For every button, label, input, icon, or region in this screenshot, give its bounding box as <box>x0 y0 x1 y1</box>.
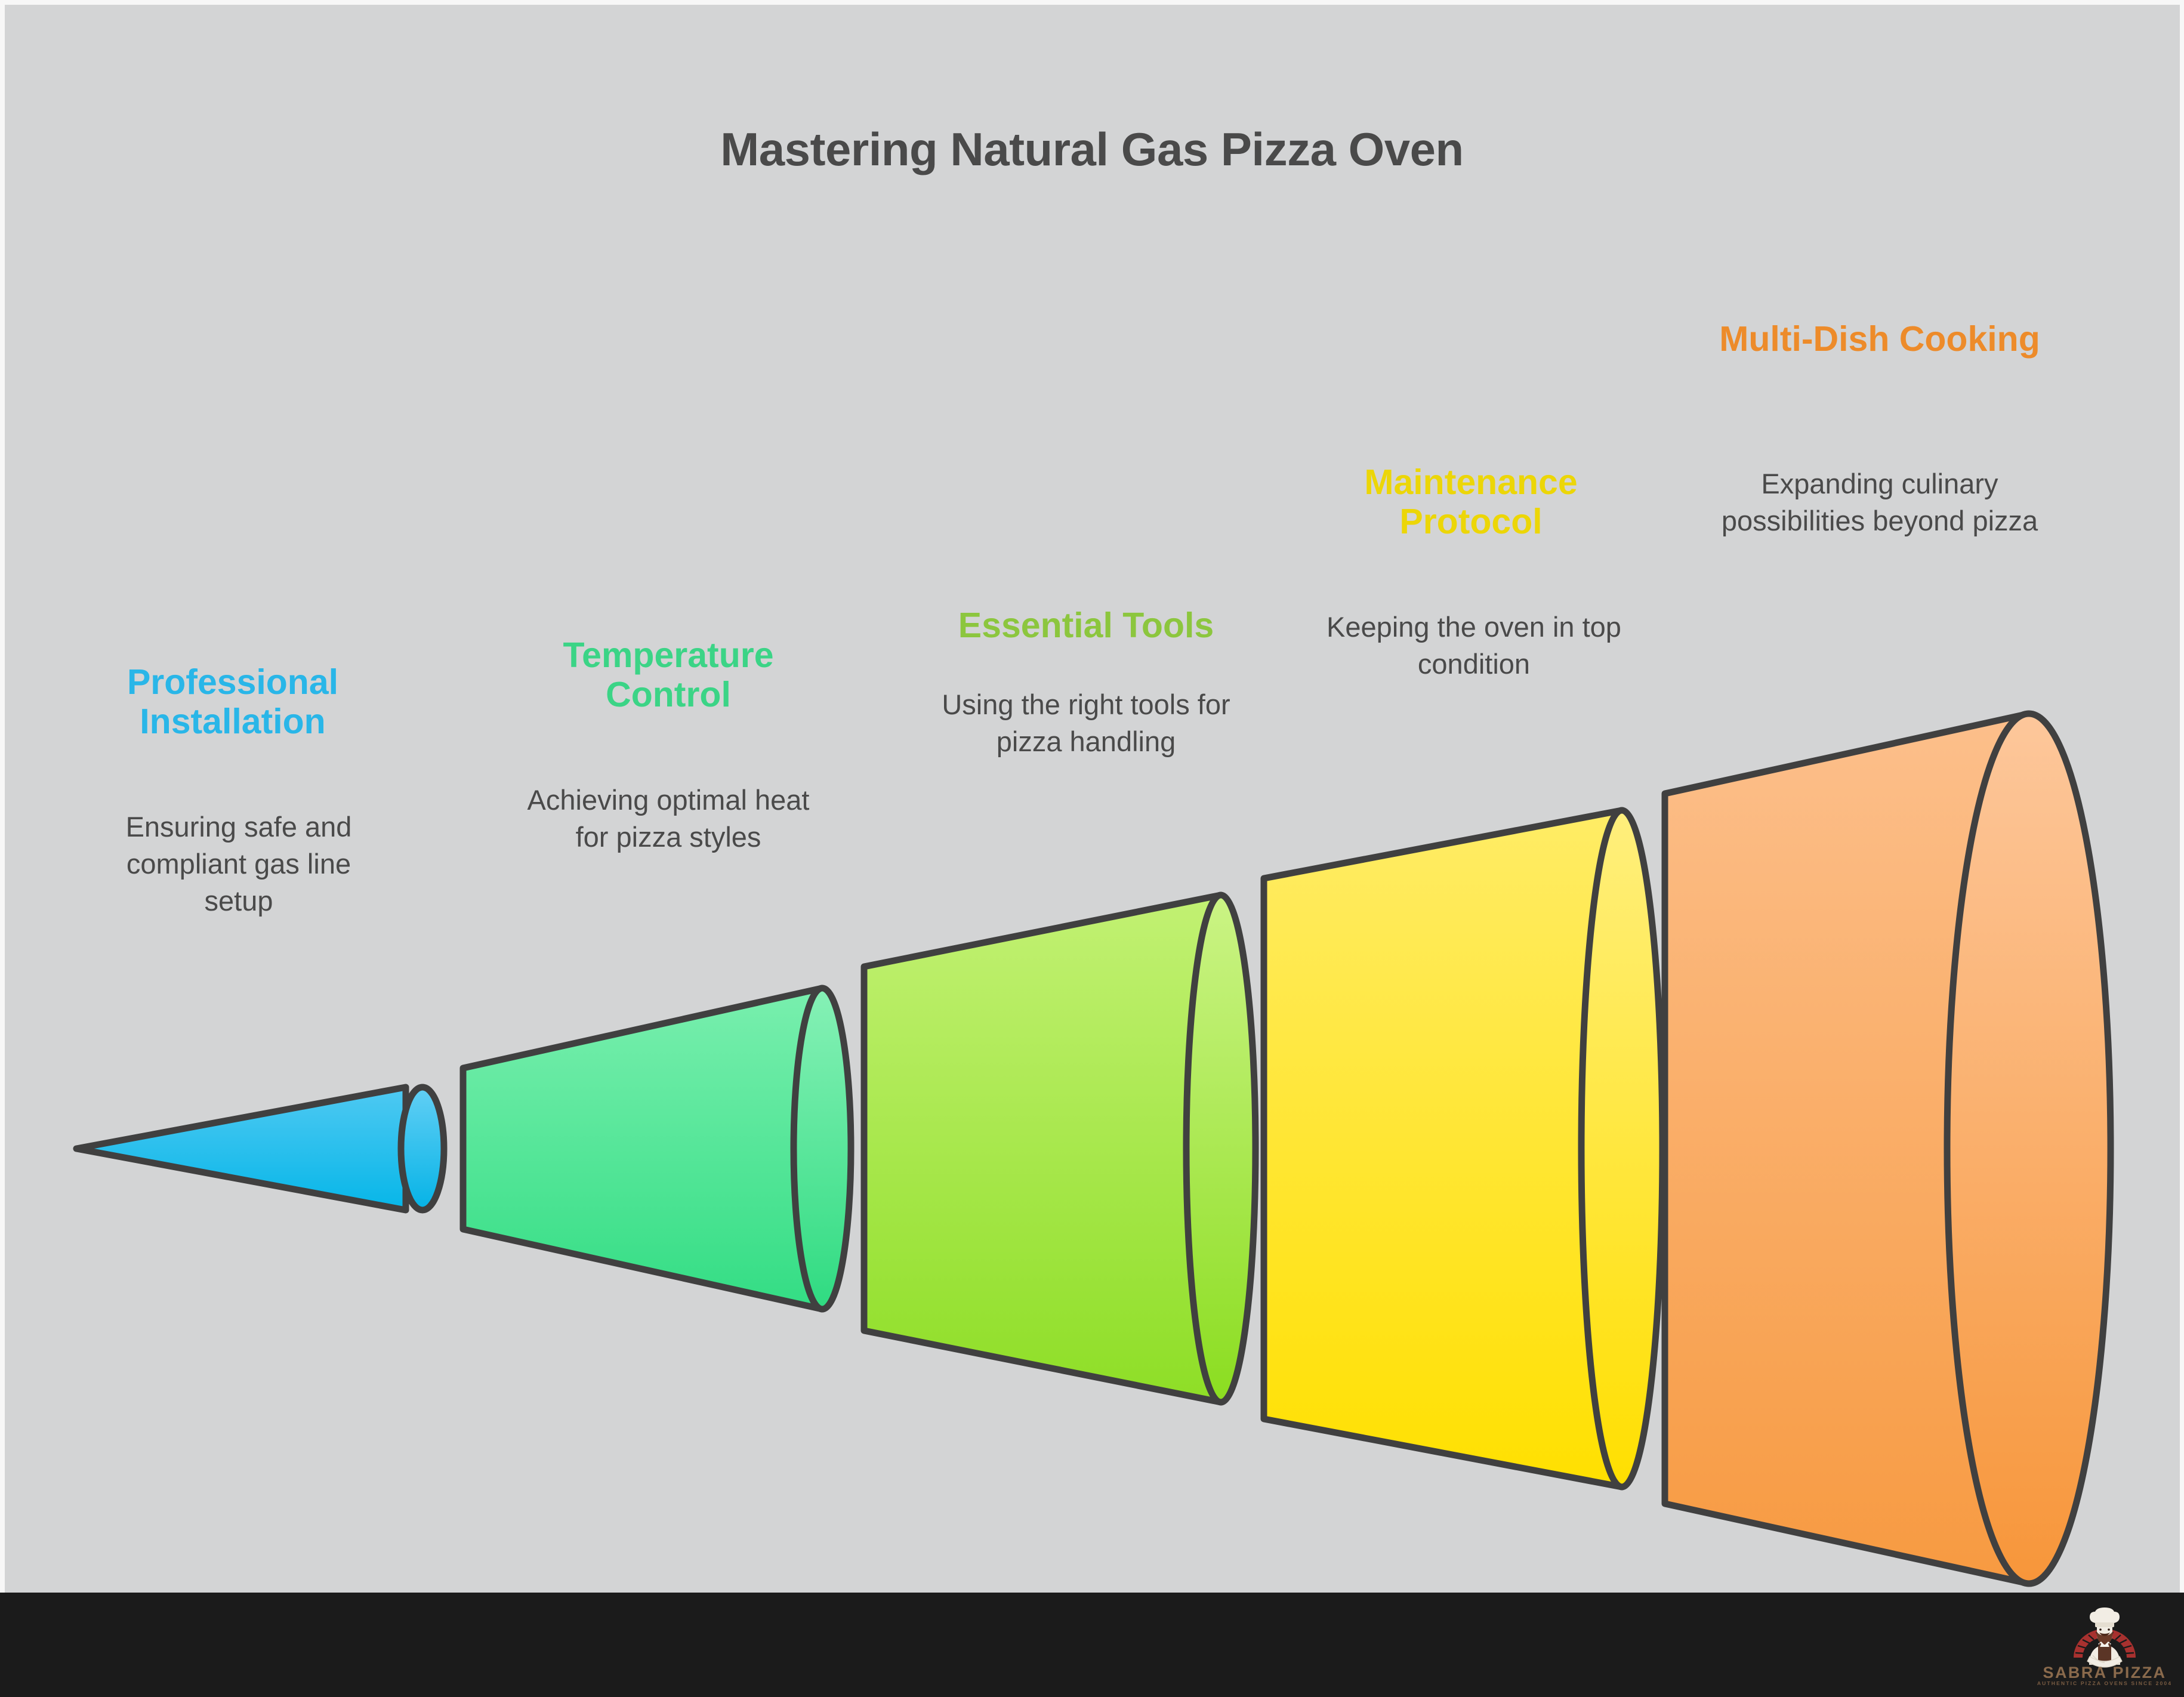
stage-label-multi-dish-cooking: Multi-Dish Cooking <box>1719 319 2041 359</box>
footer-bar <box>0 1593 2184 1697</box>
infographic-canvas: Mastering Natural Gas Pizza Oven <box>0 0 2184 1697</box>
stage-label-professional-installation: Professional Installation <box>90 662 376 741</box>
brand-name: SABRA PIZZA <box>2043 1664 2167 1681</box>
funnel-segment-maintenance-protocol[interactable] <box>1264 810 1662 1487</box>
sabra-pizza-logo: SABRA PIZZA AUTHENTIC PIZZA OVENS SINCE … <box>2036 1603 2173 1687</box>
stage-description-essential-tools: Using the right tools for pizza handling <box>928 686 1244 760</box>
stage-label-essential-tools: Essential Tools <box>919 606 1253 645</box>
brand-tagline: AUTHENTIC PIZZA OVENS SINCE 2004 <box>2037 1680 2172 1686</box>
stage-description-multi-dish-cooking: Expanding culinary possibilities beyond … <box>1713 465 2047 539</box>
funnel-segment-multi-dish-cooking[interactable] <box>1665 714 2111 1584</box>
funnel-segment-temperature-control[interactable] <box>463 988 851 1309</box>
stage-description-maintenance-protocol: Keeping the oven in top condition <box>1313 609 1635 683</box>
stage-label-maintenance-protocol: Maintenance Protocol <box>1319 462 1623 541</box>
funnel-segment-essential-tools[interactable] <box>864 895 1256 1402</box>
stage-label-temperature-control: Temperature Control <box>519 635 818 714</box>
stage-description-temperature-control: Achieving optimal heat for pizza styles <box>513 782 823 856</box>
funnel-segment-professional-installation[interactable] <box>76 1087 444 1210</box>
stage-description-professional-installation: Ensuring safe and compliant gas line set… <box>90 809 388 920</box>
